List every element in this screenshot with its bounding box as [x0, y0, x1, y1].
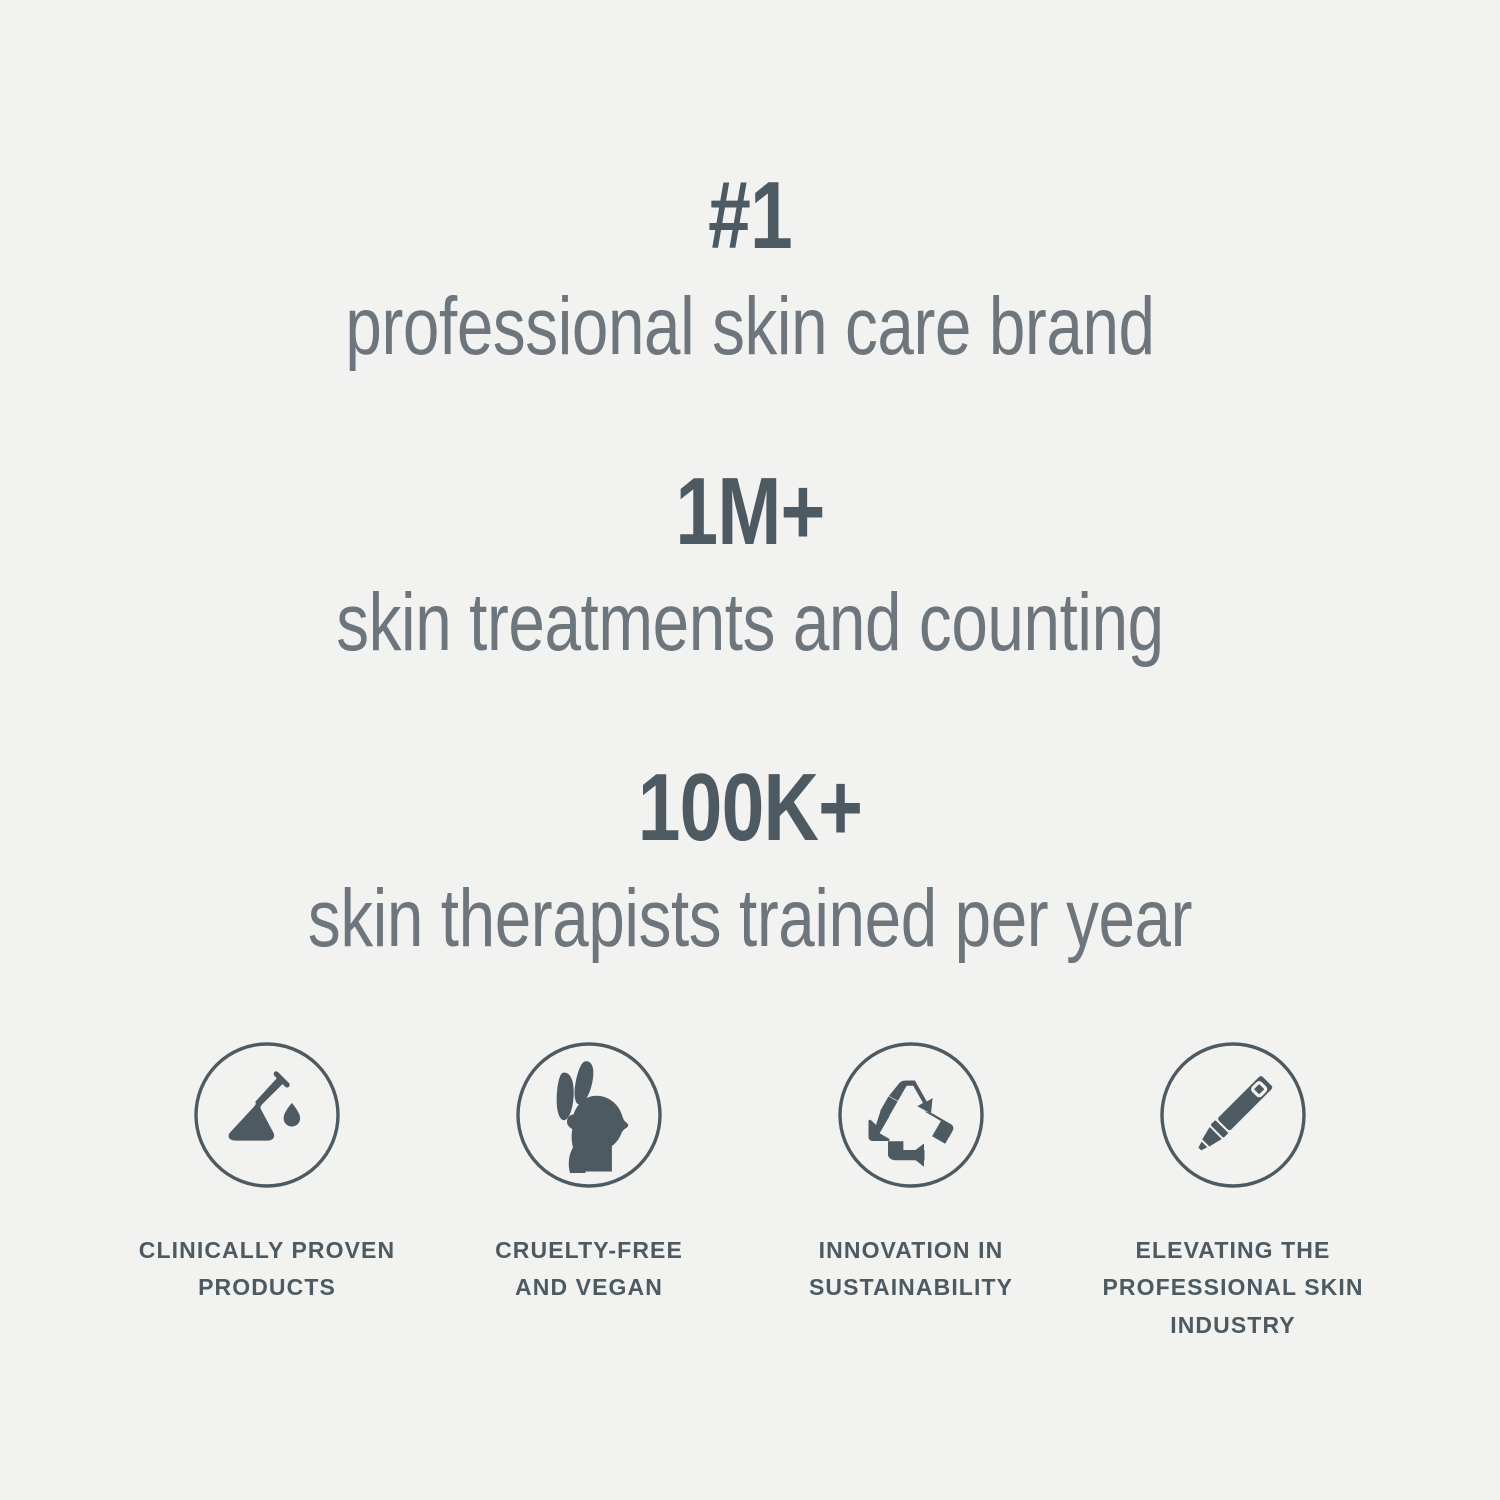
- stat-label: skin therapists trained per year: [150, 878, 1350, 960]
- badge-caption: ELEVATING THE PROFESSIONAL SKIN INDUSTRY: [1083, 1232, 1383, 1344]
- badge-elevating-professional-skin-industry: ELEVATING THE PROFESSIONAL SKIN INDUSTRY: [1072, 1040, 1394, 1344]
- badge-clinically-proven-products: CLINICALLY PROVEN PRODUCTS: [106, 1040, 428, 1307]
- recycle-icon: [836, 1040, 986, 1190]
- stat-value: 1M+: [150, 464, 1350, 560]
- badge-row: CLINICALLY PROVEN PRODUCTS: [0, 1040, 1500, 1344]
- badge-caption: INNOVATION IN SUSTAINABILITY: [761, 1232, 1061, 1307]
- stats-group: #1 professional skin care brand 1M+ skin…: [0, 0, 1500, 960]
- stat-value: #1: [150, 168, 1350, 264]
- rabbit-icon: [514, 1040, 664, 1190]
- stat-value: 100K+: [150, 760, 1350, 856]
- badge-innovation-in-sustainability: INNOVATION IN SUSTAINABILITY: [750, 1040, 1072, 1307]
- badge-caption: CLINICALLY PROVEN PRODUCTS: [117, 1232, 417, 1307]
- brand-stats-panel: #1 professional skin care brand 1M+ skin…: [0, 0, 1500, 1500]
- badge-caption: CRUELTY-FREE AND VEGAN: [439, 1232, 739, 1307]
- stat-block-3: 100K+ skin therapists trained per year: [0, 760, 1500, 960]
- stat-label: skin treatments and counting: [150, 582, 1350, 664]
- flask-droplet-icon: [192, 1040, 342, 1190]
- pen-icon: [1158, 1040, 1308, 1190]
- stat-label: professional skin care brand: [150, 286, 1350, 368]
- stat-block-2: 1M+ skin treatments and counting: [0, 464, 1500, 664]
- stat-block-1: #1 professional skin care brand: [0, 168, 1500, 368]
- badge-cruelty-free-and-vegan: CRUELTY-FREE AND VEGAN: [428, 1040, 750, 1307]
